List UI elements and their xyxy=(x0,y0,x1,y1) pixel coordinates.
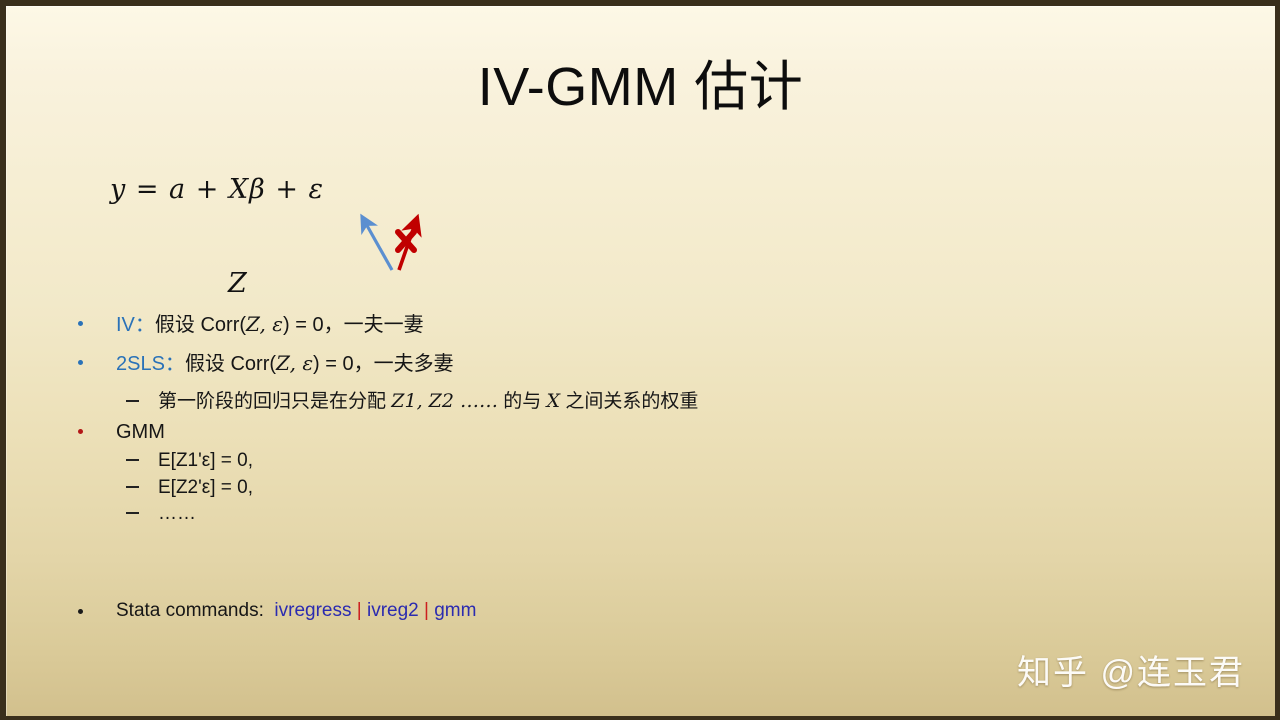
2sls-label: 2SLS： xyxy=(116,353,185,375)
dash-marker-icon xyxy=(126,512,139,514)
gmm-moment-2-text: E[Z2'ε] = 0, xyxy=(126,476,253,500)
sub-list-item-2sls-stage1: 第一阶段的回归只是在分配 Z1, Z2 …… 的与 X 之间关系的权重 xyxy=(6,390,1275,414)
iv-epsilon: ε xyxy=(272,312,283,336)
dash-marker-icon xyxy=(126,400,139,402)
list-item-stata-commands: Stata commands: ivregress | ivreg2 | gmm xyxy=(78,600,476,622)
list-item-2sls: 2SLS：假设 Corr(Z, ε) = 0，一夫多妻 xyxy=(6,351,1275,377)
stata-command-ivregress[interactable]: ivregress xyxy=(274,600,351,621)
2sls-var: Z, xyxy=(276,351,302,375)
stage1-text-b: 的与 xyxy=(498,391,547,412)
slide-canvas: IV-GMM 估计 y = a + Xβ + ε Z xyxy=(0,0,1280,720)
list-item-gmm: GMM xyxy=(6,420,1275,445)
instrument-label: Z xyxy=(228,268,247,299)
2sls-body-suffix: ) = 0，一夫多妻 xyxy=(313,353,454,375)
dash-marker-icon xyxy=(126,486,139,488)
list-item-iv-text: IV：假设 Corr(Z, ε) = 0，一夫一妻 xyxy=(78,312,424,338)
stata-prefix: Stata commands: xyxy=(116,600,274,621)
stata-commands-text: Stata commands: ivregress | ivreg2 | gmm xyxy=(78,600,476,621)
stata-separator-2: | xyxy=(419,600,435,621)
sub-list-item-gmm-moment-2: E[Z2'ε] = 0, xyxy=(6,476,1275,500)
list-item-2sls-text: 2SLS：假设 Corr(Z, ε) = 0，一夫多妻 xyxy=(78,351,454,377)
sub-list-item-gmm-moment-3: …… xyxy=(6,502,1275,526)
stage1-text-a: 第一阶段的回归只是在分配 xyxy=(158,391,391,412)
iv-var: Z, xyxy=(246,312,272,336)
sub-list-item-gmm-moment-1: E[Z1'ε] = 0, xyxy=(6,449,1275,473)
2sls-body-prefix: 假设 Corr( xyxy=(185,353,276,375)
gmm-label: GMM xyxy=(78,420,165,445)
arrow-svg xyxy=(346,204,436,284)
gmm-moment-1-text: E[Z1'ε] = 0, xyxy=(126,449,253,473)
structural-equation: y = a + Xβ + ε xyxy=(110,174,324,205)
stata-separator-1: | xyxy=(351,600,367,621)
2sls-epsilon: ε xyxy=(302,351,313,375)
iv-label: IV： xyxy=(116,314,155,336)
iv-body-prefix: 假设 Corr( xyxy=(155,314,246,336)
dash-marker-icon xyxy=(126,459,139,461)
bullet-dot-icon xyxy=(78,429,83,434)
stata-command-gmm[interactable]: gmm xyxy=(434,600,476,621)
stage1-vars: Z1, Z2 …… xyxy=(391,390,498,412)
bullet-dot-icon xyxy=(78,321,83,326)
stage1-text-c: 之间关系的权重 xyxy=(560,391,698,412)
instrument-arrows-diagram xyxy=(346,204,436,284)
stata-command-ivreg2[interactable]: ivreg2 xyxy=(367,600,419,621)
list-item-iv: IV：假设 Corr(Z, ε) = 0，一夫一妻 xyxy=(6,312,1275,338)
page-title: IV-GMM 估计 xyxy=(6,58,1275,117)
watermark: 知乎 @连玉君 xyxy=(1017,645,1245,694)
sub-list-item-2sls-text: 第一阶段的回归只是在分配 Z1, Z2 …… 的与 X 之间关系的权重 xyxy=(126,390,698,414)
bullet-dot-icon xyxy=(78,360,83,365)
bullet-dot-icon xyxy=(78,609,83,614)
iv-body-suffix: ) = 0，一夫一妻 xyxy=(283,314,424,336)
stage1-var-x: X xyxy=(547,390,561,412)
content-list: IV：假设 Corr(Z, ε) = 0，一夫一妻 2SLS：假设 Corr(Z… xyxy=(6,312,1275,529)
blue-arrow-line xyxy=(365,222,392,270)
